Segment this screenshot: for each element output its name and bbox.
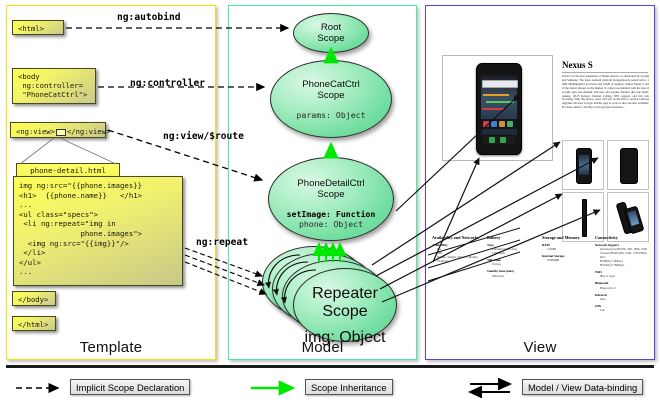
- ngview-placeholder-icon: [56, 129, 66, 136]
- spec-table: Availability and Networks Availability M…: [432, 235, 646, 330]
- hero-phone-button-2: [500, 137, 506, 143]
- scope-phonecatctrl: PhoneCatCtrl Scope params: Object: [270, 60, 392, 138]
- spec-gps-value: true: [595, 308, 647, 312]
- scope-root-title-line1: Root: [294, 22, 368, 33]
- product-title-rule: [562, 72, 648, 73]
- scope-phonecatctrl-title-line2: Scope: [271, 90, 391, 101]
- panel-template-label: Template: [7, 339, 215, 356]
- hero-image-frame: [442, 55, 553, 161]
- thumbnail-2-phone-icon: [620, 148, 638, 184]
- scope-phonedetailctrl-attr-setimage: setImage: Function: [269, 209, 393, 219]
- product-title: Nexus S: [562, 60, 593, 70]
- hero-dock-icon-1: [483, 121, 489, 127]
- spec-column-availability: Availability and Networks Availability M…: [432, 235, 484, 263]
- connector-label-ng-controller: ng:controller: [130, 78, 205, 89]
- hero-dock-icon-3: [499, 121, 505, 127]
- panel-view-label: View: [426, 339, 654, 356]
- hero-dock-icon-2: [491, 121, 497, 127]
- ngview-close-tag: </ng:view>: [67, 127, 110, 136]
- double-arrow-icon: [466, 378, 520, 398]
- product-description: Nexus S is the next generation of Nexus …: [562, 75, 649, 127]
- sticky-note-code: img ng:src="{{phone.images}} <h1> {{phon…: [13, 176, 183, 286]
- scope-repeater-title-line1: Repeater: [294, 285, 396, 303]
- hero-screen-line-2: [486, 101, 514, 103]
- spec-availability-value-3: Orange, Singtel, Sprint, T-Mobile, Vodaf…: [432, 255, 484, 263]
- spec-column-battery-header: Battery: [487, 235, 539, 240]
- spec-network-value-3: HSUPA (5.76Mbps): [595, 263, 647, 267]
- spec-network-value-1: Quad-band GSM 850, 900, 1800, 1900 Tri-b…: [595, 247, 647, 259]
- spec-bluetooth-value: Bluetooth 2.1: [595, 286, 647, 290]
- scope-repeater: Repeater Scope img: Object: [293, 268, 397, 342]
- scope-repeater-stack: Repeater Scope img: Object: [262, 246, 397, 342]
- spec-battery-type-value-2: 1500 mAh: [487, 251, 539, 255]
- spec-column-connectivity: Connectivity Network Support Quad-band G…: [595, 235, 647, 312]
- legend-label-databinding: Model / View Data-binding: [522, 379, 643, 395]
- code-box-html-close: </html>: [12, 316, 56, 331]
- code-box-body-close: </body>: [12, 291, 56, 306]
- spec-wifi-value: 802.11 b/g/n: [595, 274, 647, 278]
- hero-dock-icon-4: [507, 121, 513, 127]
- thumbnail-1[interactable]: [562, 140, 604, 190]
- spec-storage-ram-value: 512MB: [542, 247, 594, 251]
- spec-column-battery: Battery Type Lithium Ion (Li-Ion) 1500 m…: [487, 235, 539, 278]
- hero-phone-search-bar: [482, 80, 518, 88]
- hero-phone-image: [476, 63, 522, 155]
- spec-column-availability-header: Availability and Networks: [432, 235, 484, 240]
- scope-phonecatctrl-attr-params: params: Object: [271, 110, 391, 120]
- scope-root-title-line2: Scope: [294, 33, 368, 44]
- scope-phonedetailctrl-title-line2: Scope: [269, 189, 393, 200]
- thumbnail-1-phone-icon: [576, 148, 592, 184]
- legend: Implicit Scope Declaration Scope Inherit…: [6, 378, 654, 404]
- spec-storage-internal-value: 16384MB: [542, 258, 594, 262]
- dashed-arrow-icon: [14, 378, 68, 398]
- diagram-canvas: Template Model View <html> <body ng:cont…: [0, 0, 660, 420]
- thumbnail-3-phone-icon: [582, 199, 587, 237]
- ngview-open-tag: <ng:view>: [16, 127, 55, 136]
- spec-column-storage: Storage and Memory RAM 512MB Internal St…: [542, 235, 594, 262]
- scope-phonecatctrl-title-line1: PhoneCatCtrl: [271, 79, 391, 90]
- connector-label-ng-autobind: ng:autobind: [117, 12, 181, 23]
- spec-battery-standby-value: 428 hours: [487, 274, 539, 278]
- thumbnail-2[interactable]: [607, 140, 649, 190]
- spec-battery-talktime-value: 6 hours: [487, 262, 539, 266]
- green-arrow-icon: [249, 378, 303, 398]
- hero-screen-line-3: [482, 108, 504, 110]
- code-box-html-open: <html>: [12, 20, 64, 35]
- legend-label-inheritance: Scope Inheritance: [305, 379, 393, 395]
- spec-infrared-value: false: [595, 297, 647, 301]
- view-rendered-page: Nexus S Nexus S is the next generation o…: [429, 9, 649, 339]
- scope-root: Root Scope: [293, 13, 369, 53]
- scope-phonedetailctrl-attr-phone: phone: Object: [269, 219, 393, 229]
- legend-label-implicit: Implicit Scope Declaration: [70, 379, 190, 395]
- scope-phonedetailctrl-title-line1: PhoneDetailCtrl: [269, 178, 393, 189]
- sticky-note-filename: phone-detail.html: [16, 163, 120, 177]
- spec-column-connectivity-header: Connectivity: [595, 235, 647, 240]
- connector-label-ng-repeat: ng:repeat: [196, 237, 248, 248]
- scope-repeater-attr-img: img: Object: [294, 329, 396, 347]
- scope-phonedetailctrl: PhoneDetailCtrl Scope setImage: Function…: [268, 157, 394, 241]
- sticky-note-phone-detail: phone-detail.html img ng:src="{{phone.im…: [13, 163, 183, 287]
- hero-screen-line-1: [483, 94, 509, 96]
- legend-divider: [6, 365, 654, 368]
- code-box-ngview: <ng:view></ng:view>: [10, 122, 106, 138]
- hero-phone-button-1: [489, 137, 495, 143]
- spec-column-storage-header: Storage and Memory: [542, 235, 594, 240]
- hero-phone-button-bar: [483, 136, 515, 144]
- code-box-body: <body ng:controller= "PhoneCatCtrl">: [12, 68, 96, 104]
- scope-repeater-title-line2: Scope: [294, 303, 396, 321]
- connector-label-ng-view-route: ng:view/$route: [163, 131, 244, 142]
